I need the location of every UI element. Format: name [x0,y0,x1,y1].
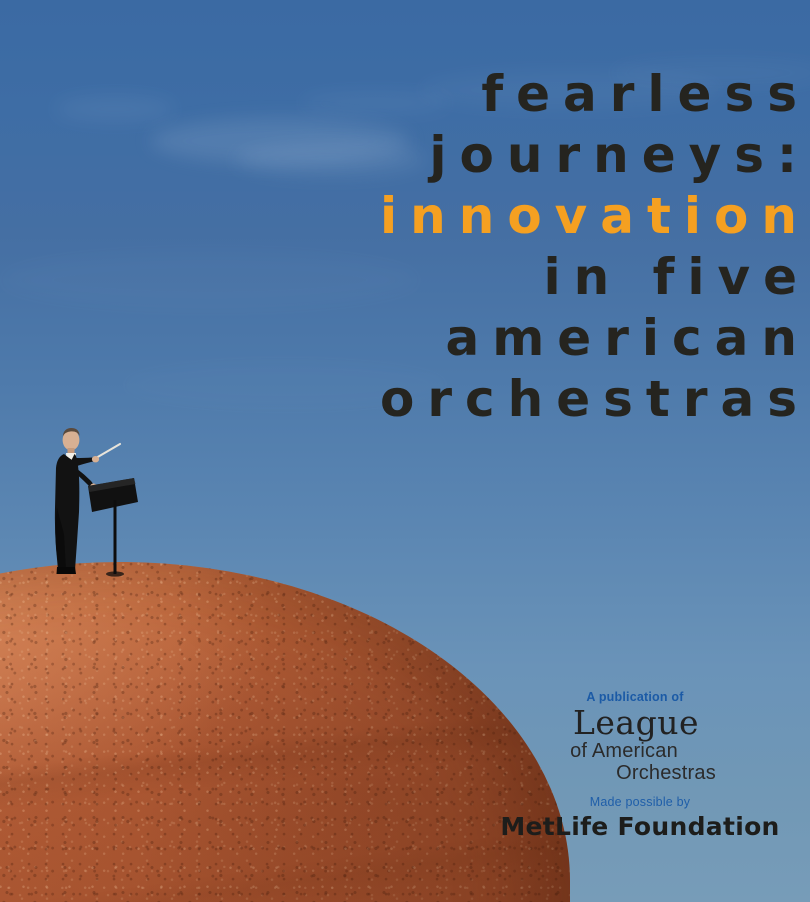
publisher-logo: A publication of League of American Orch… [520,690,750,784]
publisher-name-line-2: of American [498,740,750,762]
conductor-figure [44,424,164,584]
title-line-4: in five [0,247,810,308]
publisher-kicker: A publication of [520,690,750,704]
title-line-6: orchestras [0,369,810,430]
music-stand-icon [88,478,138,577]
baton-icon [96,444,120,458]
sponsor-kicker: Made possible by [500,795,780,809]
cover-title: fearless journeys: innovation in five am… [0,64,810,430]
title-line-3: innovation [0,186,810,247]
title-line-1: fearless [0,64,810,125]
conductor-shoes [57,567,77,574]
title-line-5: american [0,308,810,369]
rock-shading [0,562,570,902]
title-line-2: journeys: [0,125,810,186]
rock-body [0,562,570,902]
sponsor-name: MetLife Foundation [500,812,780,841]
sponsor-logo: Made possible by MetLife Foundation [500,795,780,841]
publisher-name-line-3: Orchestras [582,762,750,784]
book-cover: fearless journeys: innovation in five am… [0,0,810,902]
conductor-hand-right [92,456,99,462]
publisher-name-line-1: League [522,706,750,740]
